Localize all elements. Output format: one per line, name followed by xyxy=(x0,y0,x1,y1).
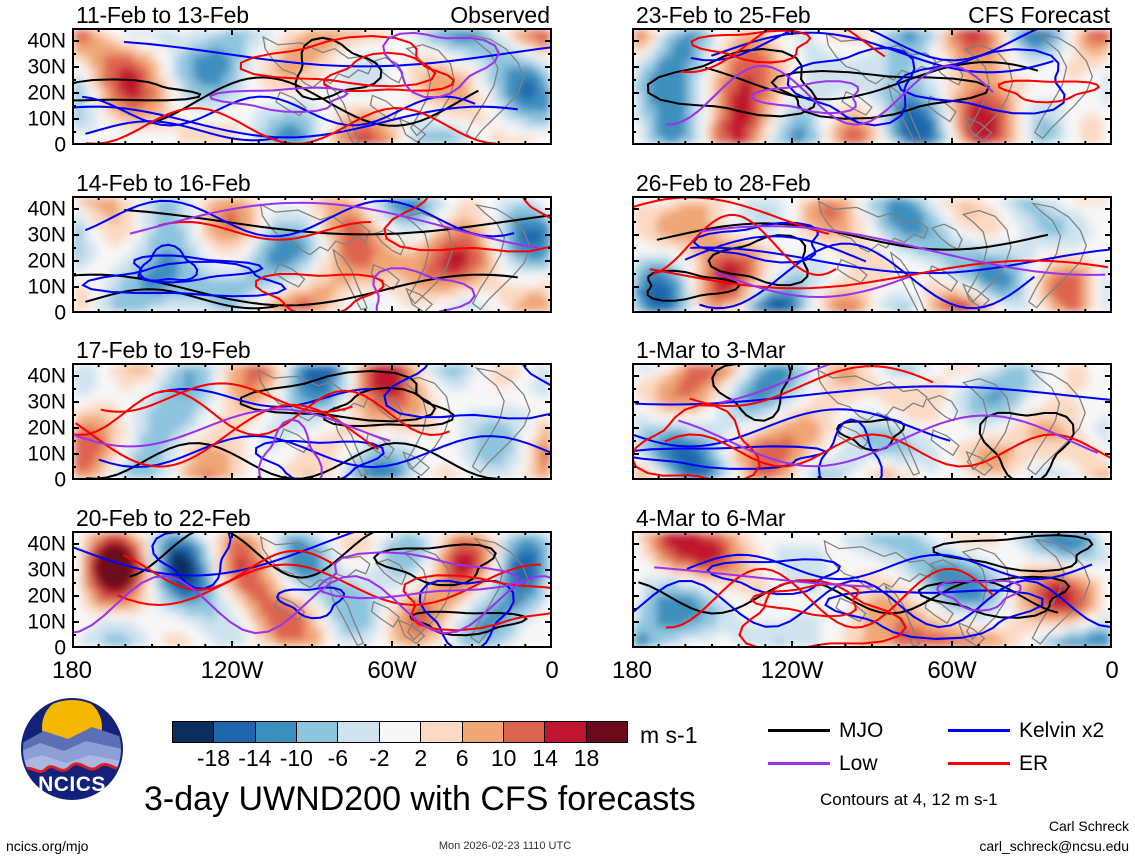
y-axis-label-20N: 20N xyxy=(27,586,66,607)
figure-root: 11-Feb to 13-FebObserved40N30N20N10N014-… xyxy=(0,0,1135,859)
map-plot-area xyxy=(632,196,1112,313)
author-email[interactable]: carl_schreck@ncsu.edu xyxy=(979,838,1129,854)
panel-title: 4-Mar to 6-Mar xyxy=(636,505,785,532)
colorbar-swatch-3 xyxy=(297,722,338,742)
map-panel-3: 17-Feb to 19-Feb40N30N20N10N0 xyxy=(72,363,552,480)
colorbar-tick-6: 6 xyxy=(456,745,469,772)
y-axis-label-0: 0 xyxy=(54,638,66,659)
y-axis-label-20N: 20N xyxy=(27,418,66,439)
colorbar-swatch-4 xyxy=(338,722,379,742)
y-axis-label-10N: 10N xyxy=(27,612,66,633)
legend-line-kelvin xyxy=(948,729,1010,732)
legend-item-low: Low xyxy=(768,752,948,776)
colorbar-tick--18: -18 xyxy=(197,745,230,772)
map-plot-area xyxy=(72,531,552,648)
legend-line-mjo xyxy=(768,729,830,732)
colorbar-tick--2: -2 xyxy=(369,745,389,772)
legend-row: MJO Kelvin x2 xyxy=(768,714,1128,747)
y-axis-label-0: 0 xyxy=(54,470,66,491)
colorbar-swatches xyxy=(172,721,628,743)
colorbar-swatch-8 xyxy=(504,722,545,742)
panel-title: 14-Feb to 16-Feb xyxy=(76,170,251,197)
map-panel-7: 1-Mar to 3-Mar xyxy=(632,363,1112,480)
map-graphic xyxy=(74,30,550,143)
legend-label-kelvin: Kelvin x2 xyxy=(1019,719,1104,743)
legend-row: Low ER xyxy=(768,747,1128,780)
y-axis-label-10N: 10N xyxy=(27,109,66,130)
panel-title: 23-Feb to 25-Feb xyxy=(636,2,811,29)
panel-title: 11-Feb to 13-Feb xyxy=(76,2,249,29)
colorbar-tick--10: -10 xyxy=(280,745,313,772)
ncics-logo: NCICS xyxy=(14,697,130,801)
y-axis-label-0: 0 xyxy=(54,303,66,324)
map-plot-area xyxy=(632,28,1112,145)
colorbar-tick-2: 2 xyxy=(414,745,427,772)
panel-title: 26-Feb to 28-Feb xyxy=(636,170,811,197)
site-url[interactable]: ncics.org/mjo xyxy=(6,838,88,854)
map-plot-area xyxy=(72,28,552,145)
y-axis-label-40N: 40N xyxy=(27,31,66,52)
colorbar-swatch-2 xyxy=(256,722,297,742)
y-axis-label-30N: 30N xyxy=(27,560,66,581)
colorbar-swatch-7 xyxy=(463,722,504,742)
panel-title: 20-Feb to 22-Feb xyxy=(76,505,251,532)
x-axis-label-60W: 60W xyxy=(367,657,416,685)
colorbar-tick-10: 10 xyxy=(491,745,517,772)
x-axis-label-60W: 60W xyxy=(927,657,976,685)
colorbar-swatch-6 xyxy=(421,722,462,742)
map-graphic xyxy=(74,533,550,646)
legend-item-mjo: MJO xyxy=(768,719,948,743)
map-panel-2: 14-Feb to 16-Feb40N30N20N10N0 xyxy=(72,196,552,313)
map-panel-6: 26-Feb to 28-Feb xyxy=(632,196,1112,313)
map-plot-area xyxy=(72,363,552,480)
main-title: 3-day UWND200 with CFS forecasts xyxy=(144,780,696,819)
colorbar-tick--14: -14 xyxy=(238,745,271,772)
colorbar-swatch-0 xyxy=(173,722,214,742)
colorbar-tick-18: 18 xyxy=(574,745,600,772)
legend-line-low xyxy=(768,762,830,765)
map-panel-8: 4-Mar to 6-Mar180120W60W0 xyxy=(632,531,1112,648)
column-header-left: Observed xyxy=(450,2,550,29)
colorbar-tick--6: -6 xyxy=(328,745,348,772)
x-axis-label-120W: 120W xyxy=(761,657,824,685)
colorbar-swatch-9 xyxy=(545,722,586,742)
map-graphic xyxy=(74,198,550,311)
map-panel-1: 11-Feb to 13-FebObserved40N30N20N10N0 xyxy=(72,28,552,145)
contour-legend: MJO Kelvin x2 Low ER xyxy=(768,714,1128,780)
column-header-right: CFS Forecast xyxy=(968,2,1110,29)
map-graphic xyxy=(634,365,1110,478)
colorbar-tick-14: 14 xyxy=(532,745,558,772)
y-axis-label-20N: 20N xyxy=(27,251,66,272)
map-graphic xyxy=(634,30,1110,143)
shading-layer xyxy=(74,198,550,311)
x-axis-label-120W: 120W xyxy=(201,657,264,685)
colorbar-tick-labels: -18-14-10-6-226101418 xyxy=(172,743,628,773)
y-axis-label-30N: 30N xyxy=(27,57,66,78)
map-panel-4: 20-Feb to 22-Feb40N30N20N10N0180120W60W0 xyxy=(72,531,552,648)
legend-item-kelvin: Kelvin x2 xyxy=(948,719,1128,743)
map-panel-5: 23-Feb to 25-FebCFS Forecast xyxy=(632,28,1112,145)
map-plot-area xyxy=(632,531,1112,648)
legend-label-mjo: MJO xyxy=(839,719,883,743)
legend-item-er: ER xyxy=(948,752,1128,776)
y-axis-label-40N: 40N xyxy=(27,366,66,387)
colorbar: -18-14-10-6-226101418 xyxy=(172,721,628,773)
panel-title: 1-Mar to 3-Mar xyxy=(636,337,785,364)
x-axis-label-0: 0 xyxy=(545,657,558,685)
x-axis-label-180: 180 xyxy=(52,657,92,685)
colorbar-swatch-1 xyxy=(214,722,255,742)
contour-level-note: Contours at 4, 12 m s-1 xyxy=(820,790,998,810)
legend-line-er xyxy=(948,762,1010,765)
y-axis-label-40N: 40N xyxy=(27,199,66,220)
author-name: Carl Schreck xyxy=(1049,818,1129,834)
colorbar-swatch-5 xyxy=(380,722,421,742)
y-axis-label-10N: 10N xyxy=(27,277,66,298)
ncics-logo-graphic: NCICS xyxy=(14,697,130,801)
map-graphic xyxy=(634,533,1110,646)
timestamp: Mon 2026-02-23 1110 UTC xyxy=(439,840,571,852)
y-axis-label-20N: 20N xyxy=(27,83,66,104)
map-plot-area xyxy=(72,196,552,313)
y-axis-label-30N: 30N xyxy=(27,225,66,246)
y-axis-label-0: 0 xyxy=(54,135,66,156)
x-axis-label-180: 180 xyxy=(612,657,652,685)
y-axis-label-40N: 40N xyxy=(27,534,66,555)
y-axis-label-30N: 30N xyxy=(27,392,66,413)
map-graphic xyxy=(74,365,550,478)
map-graphic xyxy=(634,198,1110,311)
panel-title: 17-Feb to 19-Feb xyxy=(76,337,251,364)
colorbar-swatch-10 xyxy=(587,722,627,742)
legend-label-low: Low xyxy=(839,752,878,776)
colorbar-units-label: m s-1 xyxy=(640,722,698,749)
legend-label-er: ER xyxy=(1019,752,1048,776)
map-plot-area xyxy=(632,363,1112,480)
x-axis-label-0: 0 xyxy=(1105,657,1118,685)
y-axis-label-10N: 10N xyxy=(27,444,66,465)
